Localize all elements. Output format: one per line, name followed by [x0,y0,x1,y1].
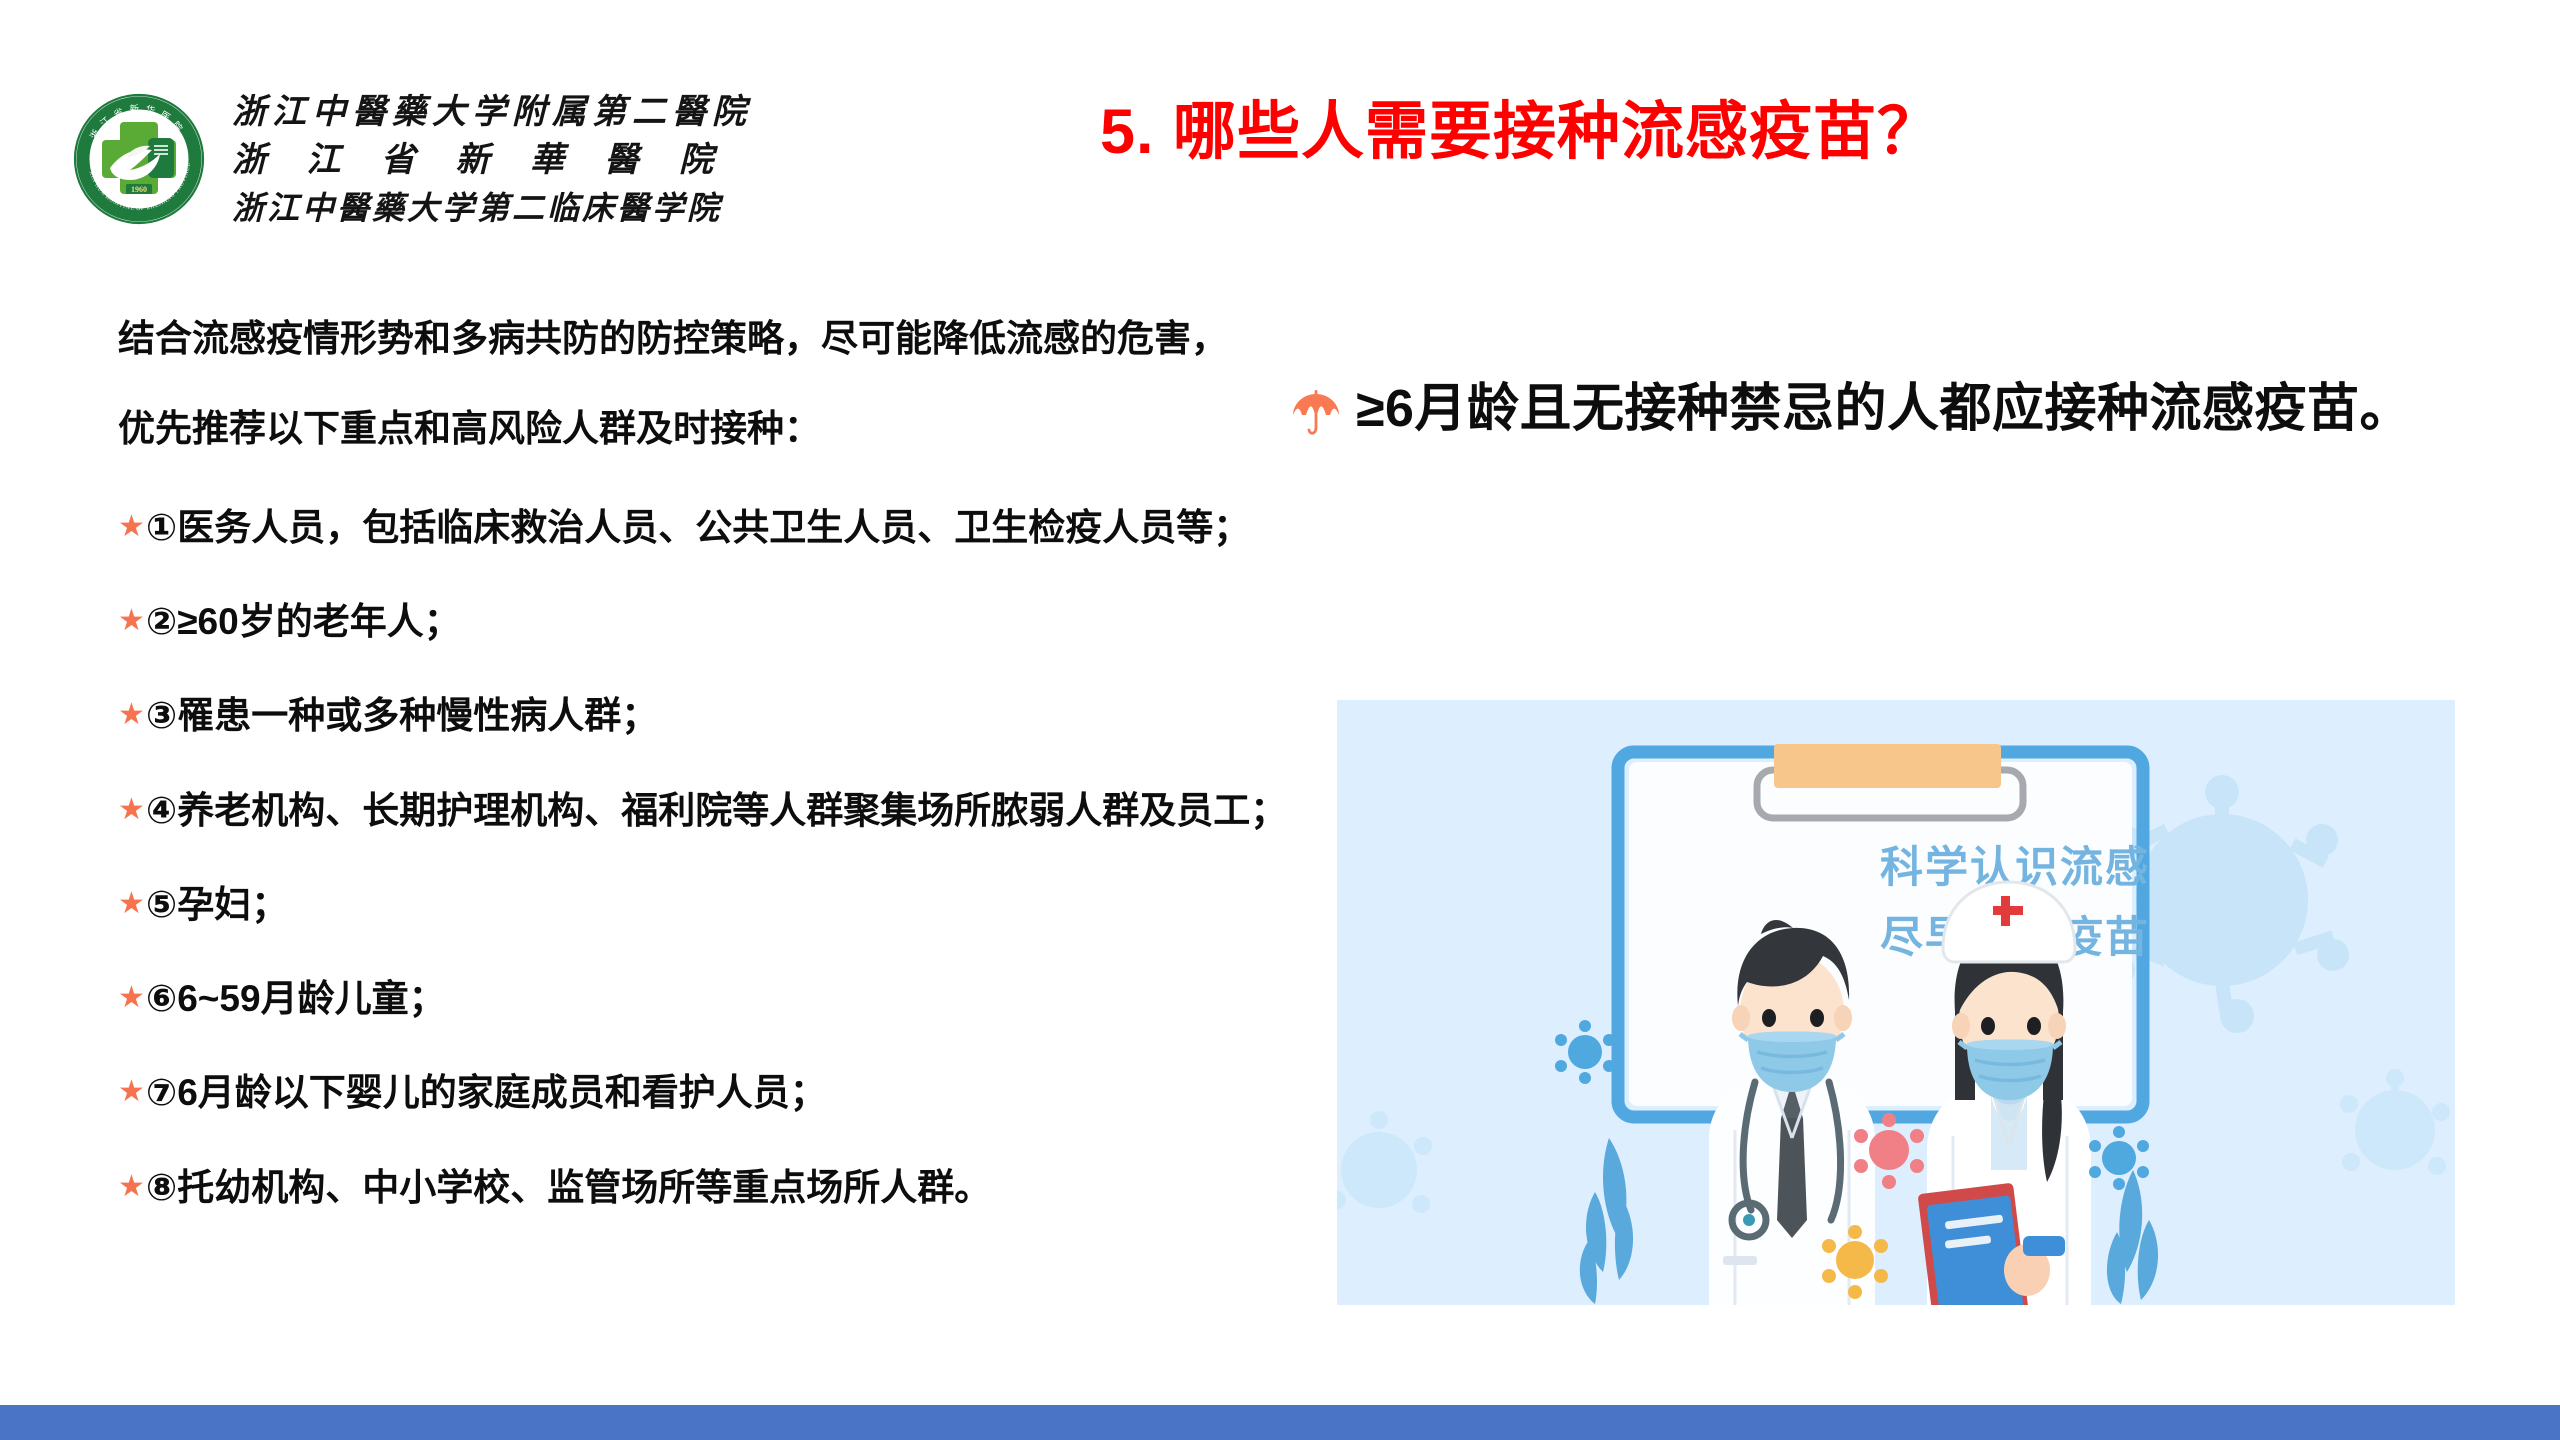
slide-header: 1960 浙 江 省 新 华 医 院 XIN HUA HOSPITAL OF Z… [0,0,2560,240]
key-point-label: ≥6月龄且无接种禁忌的人都应接种流感疫苗。 [1356,370,2520,449]
list-item: ★ ③罹患一种或多种慢性病人群； [118,688,1308,744]
star-bullet-icon: ★ [118,500,145,553]
right-column: ≥6月龄且无接种禁忌的人都应接种流感疫苗。 [1290,370,2520,449]
list-item-label: ④养老机构、长期护理机构、福利院等人群聚集场所脓弱人群及员工； [146,783,1308,839]
hospital-name-text-3: 浙江中醫藥大学第二临床醫学院 [232,190,724,226]
hospital-name-line-2: 浙 江 省 新 華 醫 院 [232,136,912,182]
list-item-label: ⑤孕妇； [146,877,1308,933]
star-bullet-icon: ★ [118,971,145,1024]
star-bullet-icon: ★ [118,594,145,647]
star-bullet-icon: ★ [118,877,145,930]
star-bullet-icon: ★ [118,1065,145,1118]
page-title: 5. 哪些人需要接种流感疫苗？ [1100,96,2260,168]
star-bullet-icon: ★ [118,688,145,741]
list-item: ★ ⑧托幼机构、中小学校、监管场所等重点场所人群。 [118,1160,1308,1216]
list-item-label: ③罹患一种或多种慢性病人群； [146,688,1308,744]
svg-text:1960: 1960 [131,185,147,194]
hospital-name-lines: 浙江中醫藥大学附属第二醫院 浙 江 省 新 華 醫 院 浙江中醫藥大学第二临床醫… [232,88,912,230]
list-item: ★ ④养老机构、长期护理机构、福利院等人群聚集场所脓弱人群及员工； [118,783,1308,839]
list-item: ★ ⑦6月龄以下婴儿的家庭成员和看护人员； [118,1065,1308,1121]
target-group-list: ★ ①医务人员，包括临床救治人员、公共卫生人员、卫生检疫人员等； ★ ②≥60岁… [118,500,1308,1216]
hospital-logo-block: 1960 浙 江 省 新 华 医 院 XIN HUA HOSPITAL OF Z… [72,88,912,230]
slide-canvas: 1960 浙 江 省 新 华 医 院 XIN HUA HOSPITAL OF Z… [0,0,2560,1440]
hospital-name-line-3: 浙江中醫藥大学第二临床醫学院 [232,184,912,230]
hospital-name-text-2: 浙 江 省 新 華 醫 院 [232,141,729,179]
umbrella-icon [1290,384,1342,436]
footer-band [0,1405,2560,1440]
list-item: ★ ②≥60岁的老年人； [118,594,1308,650]
list-item-label: ⑥6~59月龄儿童； [146,971,1308,1027]
star-bullet-icon: ★ [118,783,145,836]
key-point: ≥6月龄且无接种禁忌的人都应接种流感疫苗。 [1290,370,2520,449]
list-item: ★ ①医务人员，包括临床救治人员、公共卫生人员、卫生检疫人员等； [118,500,1308,556]
intro-line-1: 结合流感疫情形势和多病共防的防控策略，尽可能降低流感的危害， [118,320,1308,357]
list-item-label: ①医务人员，包括临床救治人员、公共卫生人员、卫生检疫人员等； [146,500,1308,556]
list-item: ★ ⑥6~59月龄儿童； [118,971,1308,1027]
intro-line-2: 优先推荐以下重点和高风险人群及时接种： [118,410,1308,447]
slide-body: 结合流感疫情形势和多病共防的防控策略，尽可能降低流感的危害， 优先推荐以下重点和… [0,300,2560,1400]
list-item: ★ ⑤孕妇； [118,877,1308,933]
doctor-nurse-clipboard-illustration: 科学认识流感 尽早接种疫苗 [1337,700,2455,1305]
star-bullet-icon: ★ [118,1160,145,1213]
list-item-label: ⑧托幼机构、中小学校、监管场所等重点场所人群。 [146,1160,1308,1216]
hospital-name-line-1: 浙江中醫藥大学附属第二醫院 [232,88,912,134]
list-item-label: ②≥60岁的老年人； [146,594,1308,650]
hospital-name-text-1: 浙江中醫藥大学附属第二醫院 [232,93,752,131]
hospital-emblem-icon: 1960 浙 江 省 新 华 医 院 XIN HUA HOSPITAL OF Z… [72,92,206,226]
left-column: 结合流感疫情形势和多病共防的防控策略，尽可能降低流感的危害， 优先推荐以下重点和… [118,320,1308,1254]
list-item-label: ⑦6月龄以下婴儿的家庭成员和看护人员； [146,1065,1308,1121]
